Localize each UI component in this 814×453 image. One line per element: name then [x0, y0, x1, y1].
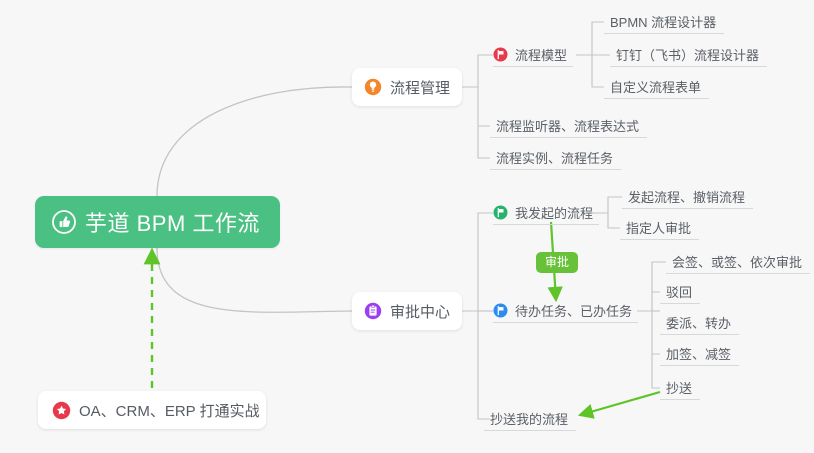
thumbs-up-icon — [52, 210, 76, 234]
leaf-assignee-approval[interactable]: 指定人审批 — [620, 216, 699, 240]
branch-node-process-management[interactable]: 流程管理 — [352, 68, 462, 106]
leaf-bpmn-designer[interactable]: BPMN 流程设计器 — [604, 10, 724, 34]
leaf-add-remove-sign[interactable]: 加签、减签 — [660, 342, 739, 366]
link-todo-to-cc — [652, 354, 660, 388]
node-label-process-model: 流程模型 — [515, 45, 567, 64]
branch-label-approval-center: 审批中心 — [390, 301, 450, 322]
leaf-reject[interactable]: 驳回 — [660, 280, 700, 304]
leaf-delegate-transfer[interactable]: 委派、转办 — [660, 311, 739, 335]
flag-icon — [493, 205, 508, 220]
lightbulb-pin-icon — [364, 78, 382, 96]
leaf-cc-to-me[interactable]: 抄送我的流程 — [484, 407, 576, 431]
node-label-my-initiated-processes: 我发起的流程 — [515, 203, 593, 222]
link-root-to-approval — [157, 248, 352, 312]
link-process-to-model — [462, 55, 493, 87]
node-process-model[interactable]: 流程模型 — [493, 43, 573, 67]
annotation-arrow-cc — [580, 392, 660, 415]
annotation-badge-approval: 审批 — [536, 252, 578, 273]
leaf-process-instance[interactable]: 流程实例、流程任务 — [490, 146, 621, 170]
leaf-start-cancel-process[interactable]: 发起流程、撤销流程 — [622, 185, 753, 209]
link-approval-to-initiated — [462, 213, 493, 311]
node-my-initiated-processes[interactable]: 我发起的流程 — [493, 201, 599, 225]
leaf-countersign[interactable]: 会签、或签、依次审批 — [666, 250, 810, 274]
link-approval-to-ccme — [478, 311, 490, 419]
link-initiated-to-assignee — [608, 213, 620, 228]
standalone-node-label: OA、CRM、ERP 打通实战 — [79, 400, 260, 421]
link-model-to-customform — [592, 55, 604, 87]
root-label: 芋道 BPM 工作流 — [85, 206, 260, 238]
leaf-cc[interactable]: 抄送 — [660, 376, 700, 400]
link-root-to-process — [157, 87, 352, 196]
link-process-to-instance — [478, 126, 490, 158]
star-icon — [52, 401, 71, 420]
mindmap-canvas: 芋道 BPM 工作流 流程管理 流程模型 BPMN 流程设计器 钉钉（飞书）流程… — [0, 0, 814, 453]
link-model-to-bpmn — [576, 22, 604, 55]
link-todo-to-reject — [652, 292, 660, 311]
leaf-dingtalk-designer[interactable]: 钉钉（飞书）流程设计器 — [610, 43, 767, 67]
flag-icon — [493, 303, 508, 318]
clipboard-icon — [364, 302, 382, 320]
root-node[interactable]: 芋道 BPM 工作流 — [35, 196, 280, 248]
leaf-process-listener[interactable]: 流程监听器、流程表达式 — [490, 114, 647, 138]
node-todo-done-tasks[interactable]: 待办任务、已办任务 — [493, 299, 638, 323]
link-process-to-listener — [478, 87, 490, 126]
standalone-node-integration[interactable]: OA、CRM、ERP 打通实战 — [38, 391, 266, 429]
node-label-todo-done-tasks: 待办任务、已办任务 — [515, 301, 632, 320]
flag-icon — [493, 47, 508, 62]
link-todo-to-addsign — [652, 311, 660, 354]
branch-node-approval-center[interactable]: 审批中心 — [352, 292, 462, 330]
leaf-custom-form[interactable]: 自定义流程表单 — [604, 75, 709, 99]
branch-label-process-management: 流程管理 — [390, 77, 450, 98]
